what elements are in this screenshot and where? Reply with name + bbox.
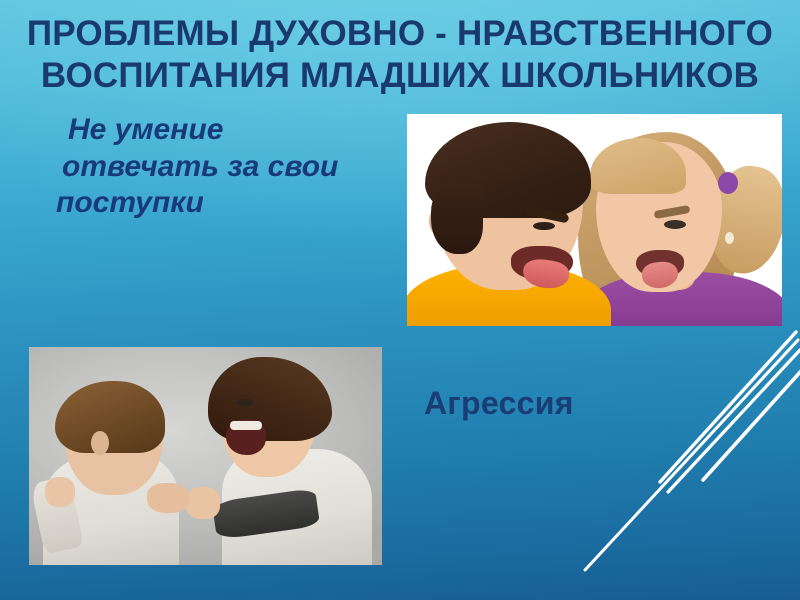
title-line-2: воспитания младших школьников [0, 58, 800, 93]
decorative-line-2 [660, 332, 796, 482]
body-text-line-3: поступки [46, 185, 406, 222]
photo-boys-fighting [29, 347, 382, 565]
page-title: Проблемы духовно - нравственного воспита… [0, 16, 800, 93]
girl-earring [725, 232, 734, 244]
body-text-line-2: отвечать за свои [46, 149, 406, 186]
presentation-slide: Проблемы духовно - нравственного воспита… [0, 0, 800, 600]
photo-kids-sticking-tongues [407, 114, 782, 326]
body-text-block: Не умение отвечать за свои поступки [46, 112, 406, 222]
decorative-line-3 [668, 350, 800, 492]
body-text-line-1: Не умение [46, 112, 406, 149]
right-boy-teeth [230, 421, 262, 430]
photo-scene-tongues [407, 114, 782, 326]
grabbing-hand [147, 483, 189, 513]
left-boy-ear [91, 431, 109, 455]
boy-eye [533, 222, 555, 230]
right-boy-eye [236, 399, 254, 406]
girl-hair-scrunchie [718, 172, 738, 194]
left-boy-fist [45, 477, 75, 507]
photo-scene-fight [29, 347, 382, 565]
decorative-line-4 [703, 370, 800, 480]
decorative-diagonal-lines [540, 310, 800, 600]
decorative-line-1 [585, 340, 798, 570]
caption-aggression: Агрессия [424, 385, 574, 422]
right-boy-fist [186, 487, 220, 519]
girl-eye [664, 220, 686, 229]
title-line-1: Проблемы духовно - нравственного [0, 16, 800, 51]
